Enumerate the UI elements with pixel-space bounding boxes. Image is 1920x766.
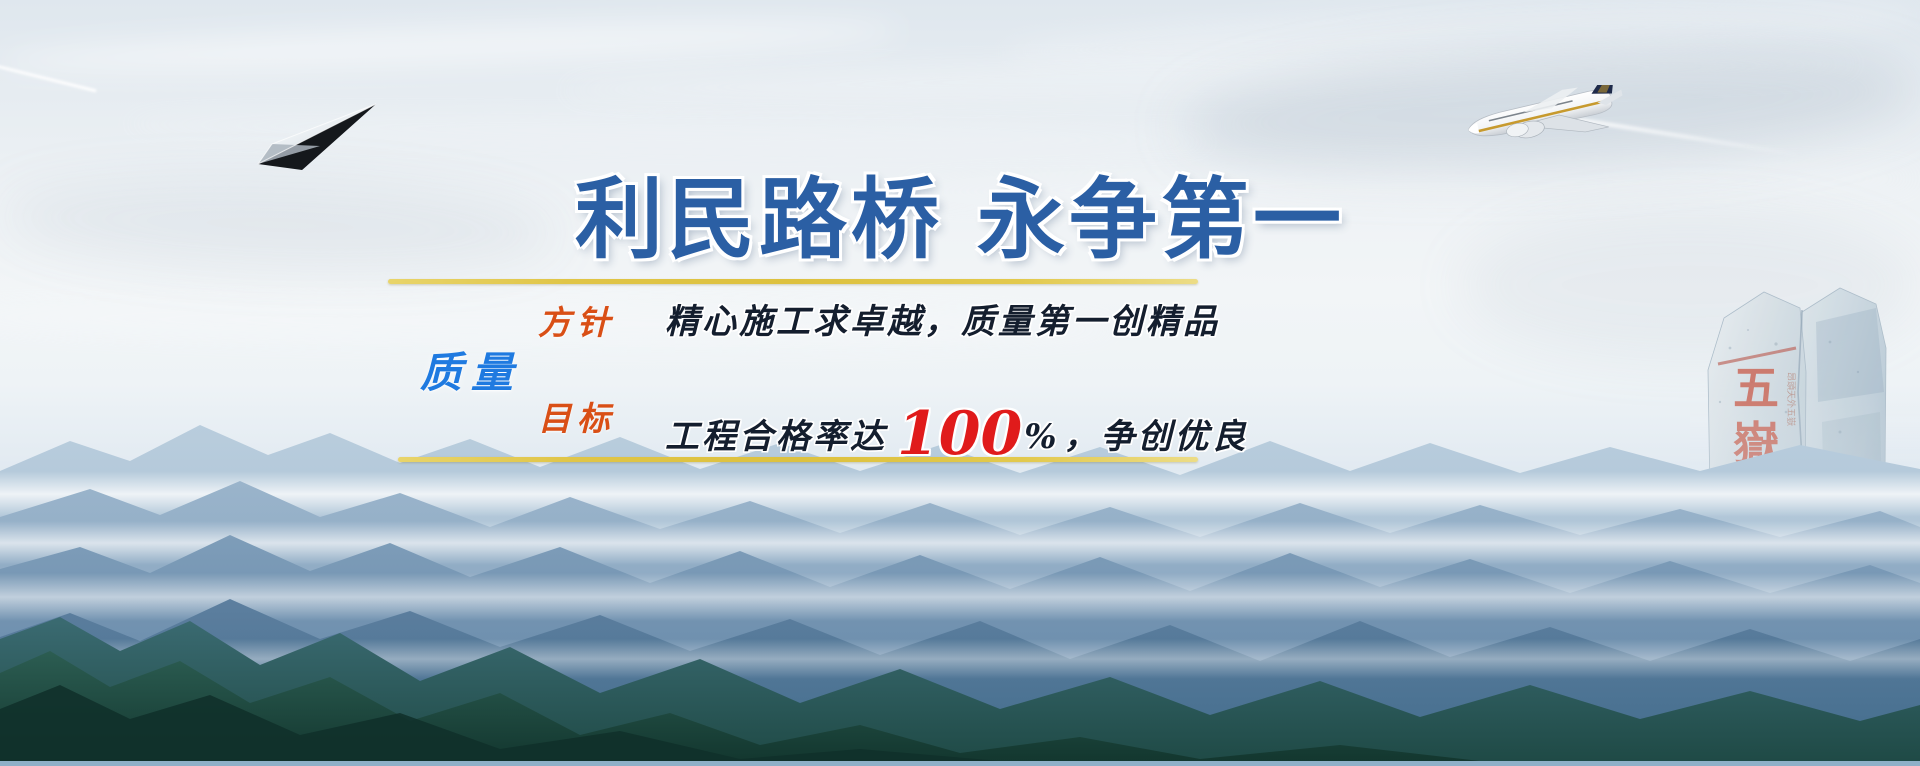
goal-percent-sign: % (1024, 420, 1059, 454)
goal-value: 100 (897, 404, 1022, 464)
policy-text: 精心施工求卓越，质量第一创精品 (665, 305, 1220, 339)
policy-label: 方针 (538, 306, 616, 339)
title-part-1: 利民路桥 (575, 168, 943, 271)
goal-label: 目标 (538, 402, 616, 435)
goal-text-before: 工程合格率达 (665, 420, 887, 454)
goal-text: 工程合格率达 100 % ，争创优良 (665, 398, 1249, 458)
page-title: 利民路桥永争第一 (0, 176, 1920, 264)
goal-text-after: ，争创优良 (1064, 420, 1249, 454)
banner-content: 利民路桥永争第一 质量 方针 精心施工求卓越，质量第一创精品 目标 工程合格率达… (0, 0, 1920, 766)
title-part-2: 永争第一 (977, 168, 1345, 271)
company-hero-banner: 五 嶽 獨 尊 昂 頭 天 外 昂頭天外五嶽 九州之巅 天下第一山 (0, 0, 1920, 766)
quality-heading: 质量 (420, 352, 522, 394)
divider-bottom (398, 457, 1198, 462)
divider-top (388, 279, 1198, 284)
